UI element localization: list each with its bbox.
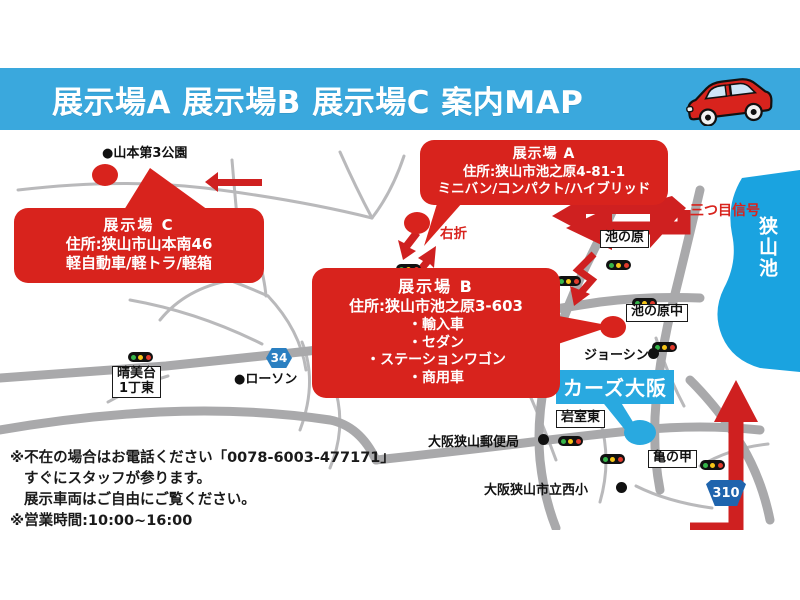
traffic-signal-iwamurohigashi [558, 436, 583, 446]
callout-b-item: ・ステーションワゴン [318, 352, 554, 370]
callout-a-types: ミニバン/コンパクト/ハイブリッド [426, 181, 662, 198]
intersection-label: 岩室東 [561, 410, 600, 425]
callout-b-address: 住所:狭山市池之原3-603 [318, 297, 554, 316]
poi-label-post-office: 大阪狭山郵便局 [428, 431, 519, 450]
callout-showroom-c: 展示場 C 住所:狭山市山本南46 軽自動車/軽トラ/軽箱 [14, 208, 264, 283]
callout-b-item: ・商用車 [318, 370, 554, 388]
shop-highlight-cars-osaka: カーズ大阪 [556, 370, 674, 404]
marker-showroom-a [404, 212, 430, 234]
poi-label-lawson: ●ローソン [234, 368, 297, 387]
traffic-signal-harumidai [128, 352, 153, 362]
poi-label-yamamoto-park: ●山本第3公園 [102, 142, 187, 161]
callout-b-item: ・セダン [318, 335, 554, 353]
poi-dot-nishi-elementary [616, 482, 627, 493]
callout-showroom-a: 展示場 A 住所:狭山市池之原4-81-1 ミニバン/コンパクト/ハイブリッド [420, 140, 668, 205]
callout-c-types: 軽自動車/軽トラ/軽箱 [20, 254, 258, 273]
callout-showroom-b: 展示場 B 住所:狭山市池之原3-603 ・輸入車 ・セダン ・ステーションワゴ… [312, 268, 560, 398]
footer-line-4: ※営業時間:10:00~16:00 [10, 511, 395, 532]
marker-showroom-b [600, 316, 626, 338]
poi-label-nishi-elementary: 大阪狭山市立西小 [484, 479, 588, 498]
traffic-signal-lower-mid [600, 454, 625, 464]
footer-notes: ※不在の場合はお電話ください「0078-6003-477171」 すぐにスタッフ… [10, 448, 395, 532]
footer-line-1: ※不在の場合はお電話ください「0078-6003-477171」 [10, 448, 395, 469]
footer-line-2: すぐにスタッフが参ります。 [10, 469, 395, 490]
poi-dot-post-office [538, 434, 549, 445]
intersection-kamenoko: 亀の甲 [648, 450, 697, 468]
marker-cars-osaka [624, 420, 656, 445]
red-car-icon [680, 74, 776, 126]
intersection-ikenoharanaka: 池の原中 [626, 304, 688, 322]
marker-showroom-c [92, 164, 118, 186]
annotation-third-signal: 三つ目信号 [690, 200, 760, 220]
intersection-label: 池の原中 [631, 304, 683, 319]
callout-a-title: 展示場 A [426, 146, 662, 164]
route-arrow-310 [690, 416, 736, 530]
lake-label-sayamaike: 狭山池 [754, 216, 781, 279]
map-page: 展示場A 展示場B 展示場C 案内MAP [0, 0, 800, 600]
annotation-turn-right: 右折 [440, 222, 467, 242]
intersection-label-line1: 晴美台 [117, 367, 156, 382]
intersection-label: 池の原 [605, 230, 644, 245]
intersection-harumidai: 晴美台 1丁東 [112, 366, 161, 398]
traffic-signal-ikenohara [606, 260, 631, 270]
intersection-label-line2: 1丁東 [117, 382, 156, 397]
callout-c-address: 住所:狭山市山本南46 [20, 235, 258, 254]
poi-label-joshin: ジョーシン [584, 344, 649, 363]
header-banner: 展示場A 展示場B 展示場C 案内MAP [0, 68, 800, 130]
traffic-signal-kamenoko [700, 460, 725, 470]
callout-c-title: 展示場 C [20, 216, 258, 235]
callout-a-address: 住所:狭山市池之原4-81-1 [426, 164, 662, 181]
poi-dot-joshin [648, 348, 659, 359]
intersection-ikenohara: 池の原 [600, 230, 649, 248]
page-title: 展示場A 展示場B 展示場C 案内MAP [52, 77, 583, 122]
intersection-iwamurohigashi: 岩室東 [556, 410, 605, 428]
route-arrow-head-north [714, 380, 758, 422]
callout-c-tail [124, 168, 208, 210]
intersection-label: 亀の甲 [653, 450, 692, 465]
callout-b-item: ・輸入車 [318, 317, 554, 335]
footer-line-3: 展示車両はご自由にご覧ください。 [10, 490, 395, 511]
callout-b-title: 展示場 B [318, 277, 554, 297]
